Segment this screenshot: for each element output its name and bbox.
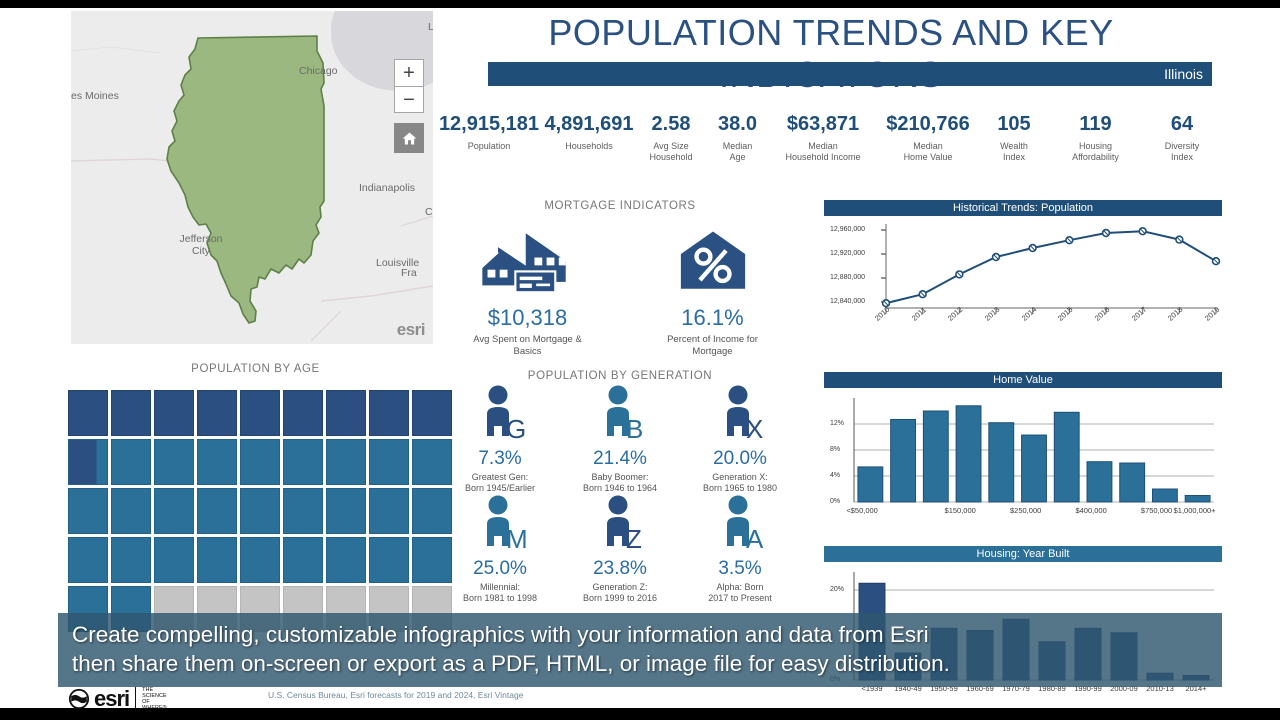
generation-item-z: Z23.8%Generation Z: Born 1999 to 2016 (560, 494, 680, 604)
waffle-cell (68, 439, 108, 485)
kpi-value: $63,871 (769, 112, 877, 136)
waffle-cell (111, 439, 151, 485)
map-label-lansing: L (428, 21, 433, 33)
person-icon: B (560, 384, 680, 446)
waffle-cell (154, 439, 194, 485)
kpi-median: $210,766Median Home Value (877, 112, 979, 163)
map-label-frankfort: Fra (401, 267, 417, 279)
generation-letter: A (746, 526, 763, 552)
x-tick-label: $400,000 (1075, 506, 1106, 515)
subtitle-text: Illinois (1164, 66, 1203, 82)
house-with-card-icon (475, 228, 580, 294)
waffle-cell (68, 390, 108, 436)
chart-title-historical-trends: Historical Trends: Population (824, 200, 1222, 216)
kpi-label: Median Home Value (877, 141, 979, 163)
mortgage-value: 16.1% (625, 305, 800, 331)
line-chart-body: 12,840,00012,880,00012,920,00012,960,000… (824, 216, 1222, 350)
kpi-median: $63,871Median Household Income (769, 112, 877, 163)
mortgage-label: Percent of Income for Mortgage (625, 334, 800, 358)
generation-item-x: X20.0%Generation X: Born 1965 to 1980 (680, 384, 800, 494)
house-percent-icon (679, 228, 747, 294)
person-icon: Z (560, 494, 680, 556)
generation-percent: 21.4% (560, 448, 680, 470)
kpi-label: Housing Affordability (1049, 141, 1142, 163)
mortgage-card-avg-spent: $10,318 Avg Spent on Mortgage & Basics (440, 228, 615, 358)
y-tick-label: 4% (830, 472, 840, 479)
kpi-value: 64 (1142, 112, 1222, 136)
kpi-value: $210,766 (877, 112, 979, 136)
generation-grid: G7.3%Greatest Gen: Born 1945/EarlierB21.… (440, 384, 800, 604)
kpi-label: Avg Size Household (636, 141, 706, 163)
y-tick-label: 12,960,000 (830, 226, 865, 233)
waffle-cell (369, 439, 409, 485)
waffle-cell (197, 488, 237, 534)
waffle-cell (197, 537, 237, 583)
generation-label: Generation X: Born 1965 to 1980 (680, 472, 800, 494)
x-tick-label: $750,000 (1141, 506, 1172, 515)
waffle-cell (326, 439, 366, 485)
kpi-avg-size: 2.58Avg Size Household (636, 112, 706, 163)
generation-item-b: B21.4%Baby Boomer: Born 1946 to 1964 (560, 384, 680, 494)
kpi-value: 4,891,691 (542, 112, 636, 136)
kpi-median: 38.0Median Age (706, 112, 769, 163)
generation-row: G7.3%Greatest Gen: Born 1945/EarlierB21.… (440, 384, 800, 494)
generation-percent: 20.0% (680, 448, 800, 470)
kpi-diversity: 64Diversity Index (1142, 112, 1222, 163)
kpi-households: 4,891,691Households (542, 112, 636, 152)
waffle-cell (111, 488, 151, 534)
kpi-wealth: 105Wealth Index (979, 112, 1049, 163)
map-label-indianapolis: Indianapolis (359, 182, 415, 194)
kpi-label: Median Household Income (769, 141, 877, 163)
generation-label: Millennial: Born 1981 to 1998 (440, 582, 560, 604)
chart-title-housing-year-built: Housing: Year Built (824, 546, 1222, 562)
x-tick-label: $1,000,000+ (1174, 506, 1216, 515)
waffle-cell (68, 537, 108, 583)
caption-line-2: then share them on-screen or export as a… (72, 649, 1208, 678)
population-by-age-heading: POPULATION BY AGE (68, 363, 443, 375)
waffle-cell (240, 488, 280, 534)
generation-percent: 3.5% (680, 558, 800, 580)
letterbox-top (0, 0, 1280, 8)
esri-globe-icon (68, 688, 90, 710)
y-tick-label: 12% (830, 420, 844, 427)
map-label-jefferson-city: JeffersonCity (166, 233, 236, 257)
kpi-label: Households (542, 141, 636, 152)
waffle-cell (154, 537, 194, 583)
footer: esri THE SCIENCE OF WHERE® (68, 686, 167, 712)
kpi-label: Wealth Index (979, 141, 1049, 163)
waffle-cell (326, 488, 366, 534)
y-tick-label: 12,840,000 (830, 298, 865, 305)
chart-title-home-value: Home Value (824, 372, 1222, 388)
kpi-value: 38.0 (706, 112, 769, 136)
generation-percent: 25.0% (440, 558, 560, 580)
home-value-chart-body: 0%4%8%12%<$50,000$150,000$250,000$400,00… (824, 388, 1222, 532)
generation-label: Alpha: Born 2017 to Present (680, 582, 800, 604)
kpi-label: Population (436, 141, 542, 152)
generation-letter: B (626, 416, 643, 442)
person-icon: X (680, 384, 800, 446)
generation-letter: M (506, 526, 528, 552)
waffle-cell (111, 537, 151, 583)
caption-line-1: Create compelling, customizable infograp… (72, 620, 1208, 649)
person-icon: M (440, 494, 560, 556)
y-tick-label: 0% (830, 498, 840, 505)
kpi-population: 12,915,181Population (436, 112, 542, 152)
letterbox-bottom (0, 708, 1280, 720)
mortgage-heading: MORTGAGE INDICATORS (440, 200, 800, 212)
generation-item-a: A3.5%Alpha: Born 2017 to Present (680, 494, 800, 604)
y-tick-label: 12,920,000 (830, 250, 865, 257)
waffle-cell (197, 390, 237, 436)
waffle-cell (326, 537, 366, 583)
map-label-columbus: C (425, 206, 433, 218)
waffle-cell (283, 537, 323, 583)
generation-label: Greatest Gen: Born 1945/Earlier (440, 472, 560, 494)
person-icon: G (440, 384, 560, 446)
waffle-cell (197, 439, 237, 485)
x-tick-label: $150,000 (945, 506, 976, 515)
x-tick-label: <$50,000 (846, 506, 878, 515)
waffle-cell (240, 537, 280, 583)
source-note: U.S. Census Bureau, Esri forecasts for 2… (268, 690, 523, 700)
generation-letter: G (506, 416, 526, 442)
generation-item-m: M25.0%Millennial: Born 1981 to 1998 (440, 494, 560, 604)
waffle-cell (326, 390, 366, 436)
person-icon: A (680, 494, 800, 556)
generation-letter: X (746, 416, 763, 442)
illinois-state-shape (71, 11, 433, 344)
esri-logo-text: esri (94, 686, 129, 712)
esri-tagline: THE SCIENCE OF WHERE® (135, 687, 167, 711)
generation-label: Baby Boomer: Born 1946 to 1964 (560, 472, 680, 494)
map-label-des-moines: es Moines (71, 90, 119, 102)
zoom-in-button[interactable]: + (394, 59, 424, 86)
waffle-cell (240, 439, 280, 485)
mortgage-card-percent-income: 16.1% Percent of Income for Mortgage (625, 228, 800, 358)
kpi-label: Diversity Index (1142, 141, 1222, 163)
waffle-cell (369, 488, 409, 534)
waffle-cell (283, 488, 323, 534)
kpi-label: Median Age (706, 141, 769, 163)
chart-panel-historical-trends: Historical Trends: Population 12,840,000… (824, 200, 1222, 350)
generation-percent: 7.3% (440, 448, 560, 470)
kpi-value: 12,915,181 (436, 112, 542, 136)
subtitle-bar: Illinois (488, 62, 1212, 86)
waffle-cell (111, 390, 151, 436)
waffle-cell (369, 390, 409, 436)
y-tick-label: 12,880,000 (830, 274, 865, 281)
map-panel[interactable]: es Moines Chicago Indianapolis Jefferson… (71, 11, 433, 344)
x-tick-label: $250,000 (1010, 506, 1041, 515)
kpi-value: 105 (979, 112, 1049, 136)
waffle-cell (240, 390, 280, 436)
y-tick-label: 8% (830, 446, 840, 453)
infographic-screenshot: es Moines Chicago Indianapolis Jefferson… (0, 0, 1280, 720)
chart-panel-home-value: Home Value 0%4%8%12%<$50,000$150,000$250… (824, 372, 1222, 532)
mortgage-label: Avg Spent on Mortgage & Basics (440, 334, 615, 358)
generation-letter: Z (626, 526, 642, 552)
map-label-chicago: Chicago (299, 65, 338, 77)
zoom-out-button[interactable]: − (394, 86, 424, 113)
waffle-cell (283, 390, 323, 436)
generation-label: Generation Z: Born 1999 to 2016 (560, 582, 680, 604)
waffle-cell (154, 488, 194, 534)
waffle-cell (283, 439, 323, 485)
generation-item-g: G7.3%Greatest Gen: Born 1945/Earlier (440, 384, 560, 494)
waffle-cell (68, 488, 108, 534)
esri-watermark: esri (397, 320, 425, 340)
waffle-cell (154, 390, 194, 436)
waffle-cell (369, 537, 409, 583)
generation-percent: 23.8% (560, 558, 680, 580)
y-tick-label: 20% (830, 586, 844, 593)
kpi-housing: 119Housing Affordability (1049, 112, 1142, 163)
population-by-age-waffle (68, 390, 452, 632)
generation-row: M25.0%Millennial: Born 1981 to 1998Z23.8… (440, 494, 800, 604)
kpi-row: 12,915,181Population4,891,691Households2… (436, 112, 1226, 180)
mortgage-value: $10,318 (440, 305, 615, 331)
caption-overlay: Create compelling, customizable infograp… (58, 613, 1222, 687)
population-by-generation-heading: POPULATION BY GENERATION (440, 370, 800, 382)
home-icon[interactable] (394, 123, 424, 153)
kpi-value: 119 (1049, 112, 1142, 136)
kpi-value: 2.58 (636, 112, 706, 136)
